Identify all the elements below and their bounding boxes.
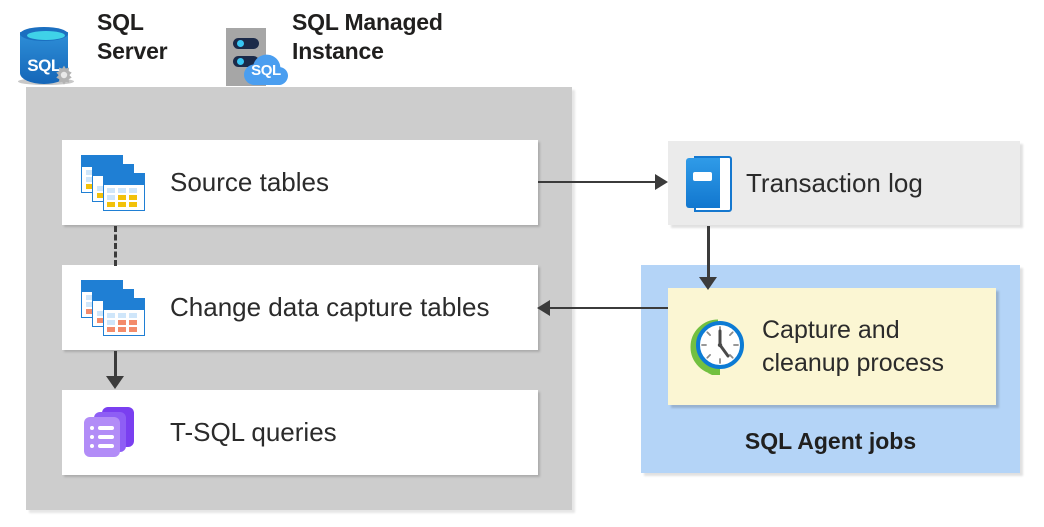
change-data-capture-tables-label: Change data capture tables (170, 292, 489, 323)
capture-process-to-cdc-tables-arrowhead (537, 300, 550, 316)
source-tables-box[interactable]: Source tables (62, 140, 538, 225)
sql-managed-instance-icon: SQL (220, 26, 290, 92)
change-data-capture-tables-box[interactable]: Change data capture tables (62, 265, 538, 350)
table-stack-icon (81, 280, 143, 336)
transaction-log-to-capture-process-arrowhead (699, 277, 717, 290)
sql-server-heading: SQL Server (97, 8, 167, 66)
book-front-cover (686, 158, 720, 208)
sql-server-database-icon: SQL (18, 26, 80, 92)
sql-managed-instance-heading: SQL Managed Instance (292, 8, 443, 66)
book-label (693, 172, 712, 181)
source-tables-icon-slot (76, 155, 148, 211)
source-tables-label: Source tables (170, 167, 329, 198)
transaction-log-box[interactable]: Transaction log (668, 141, 1020, 225)
cylinder-top (20, 27, 68, 41)
rack-status-dot (237, 40, 244, 47)
clock-refresh-icon (690, 319, 746, 375)
diagram-canvas: SQL SQL Server SQL SQL Managed Instance (0, 0, 1044, 527)
t-sql-queries-icon-slot (76, 407, 148, 459)
query-list-icon (82, 407, 142, 459)
cloud-sql-text: SQL (242, 62, 290, 79)
table-stack-icon (81, 155, 143, 211)
table-layer-front (103, 298, 145, 336)
capture-and-cleanup-process-label: Capture and cleanup process (762, 314, 944, 380)
sql-agent-jobs-label: SQL Agent jobs (641, 428, 1020, 455)
cylinder-top-inner (27, 31, 65, 40)
cdc-tables-icon-slot (76, 280, 148, 336)
source-tables-to-transaction-log-line (538, 181, 655, 183)
capture-and-cleanup-process-box[interactable]: Capture and cleanup process (668, 288, 996, 405)
capture-process-to-cdc-tables-line (550, 307, 668, 309)
t-sql-queries-box[interactable]: T-SQL queries (62, 390, 538, 475)
transaction-log-label: Transaction log (746, 168, 923, 199)
query-card-front (84, 417, 120, 457)
t-sql-queries-label: T-SQL queries (170, 417, 337, 448)
source-tables-to-cdc-tables-dashed-line (114, 226, 117, 266)
gear-icon (52, 63, 76, 87)
book-icon (686, 156, 732, 210)
source-tables-to-transaction-log-arrowhead (655, 174, 668, 190)
transaction-log-to-capture-process-line (707, 226, 710, 282)
table-layer-front (103, 173, 145, 211)
cdc-tables-to-t-sql-queries-arrowhead (106, 376, 124, 389)
